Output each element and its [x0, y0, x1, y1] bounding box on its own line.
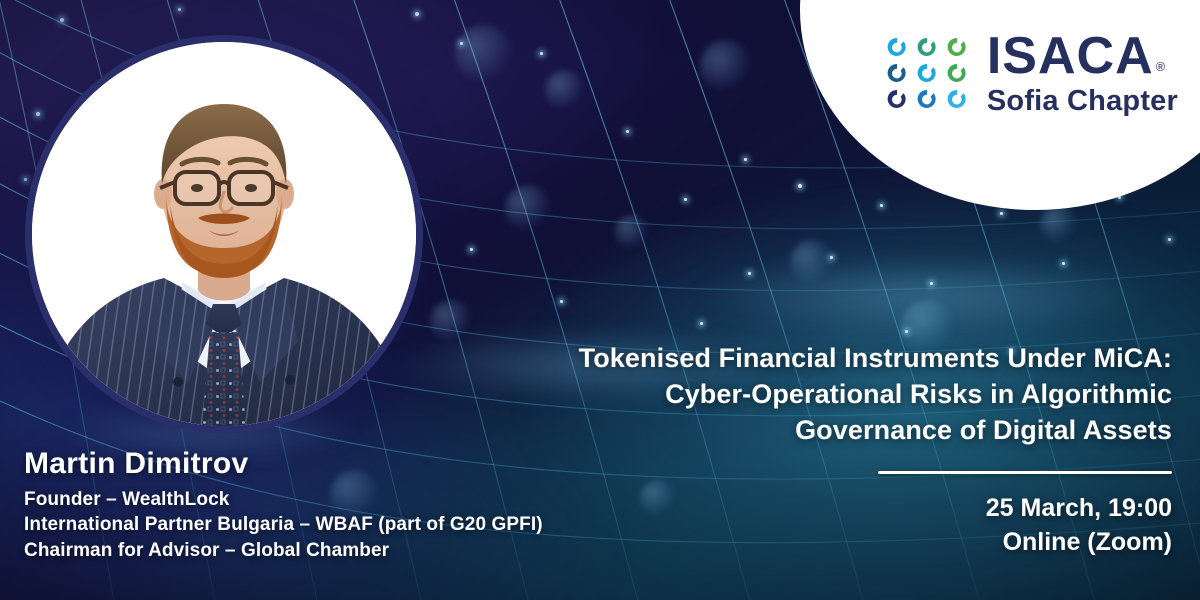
isaca-wordmark: ISACA ® Sofia Chapter [987, 30, 1178, 116]
speaker-avatar [32, 42, 416, 426]
event-banner: ISACA ® Sofia Chapter [0, 0, 1200, 600]
speaker-name: Martin Dimitrov [24, 447, 543, 481]
chapter-name: Sofia Chapter [987, 87, 1178, 116]
event-location: Online (Zoom) [512, 525, 1172, 559]
event-title: Tokenised Financial Instruments Under Mi… [512, 340, 1172, 449]
event-details: Tokenised Financial Instruments Under Mi… [512, 340, 1172, 559]
event-title-line-1: Tokenised Financial Instruments Under Mi… [512, 340, 1172, 376]
speaker-role-1: Founder – WealthLock [24, 487, 543, 513]
isaca-nine-arc-mark-icon [883, 35, 971, 111]
event-date-time: 25 March, 19:00 [512, 491, 1172, 525]
registered-trademark-icon: ® [1156, 60, 1167, 73]
event-meta: 25 March, 19:00 Online (Zoom) [512, 491, 1172, 559]
isaca-logo[interactable]: ISACA ® Sofia Chapter [883, 30, 1178, 116]
speaker-role-3: Chairman for Advisor – Global Chamber [24, 538, 543, 564]
isaca-name: ISACA [987, 30, 1154, 82]
event-title-line-2: Cyber-Operational Risks in Algorithmic [512, 376, 1172, 412]
title-divider [878, 471, 1172, 474]
speaker-photo [32, 42, 416, 426]
event-title-line-3: Governance of Digital Assets [512, 412, 1172, 448]
speaker-role-2: International Partner Bulgaria – WBAF (p… [24, 512, 543, 538]
speaker-info: Martin Dimitrov Founder – WealthLock Int… [24, 447, 543, 564]
